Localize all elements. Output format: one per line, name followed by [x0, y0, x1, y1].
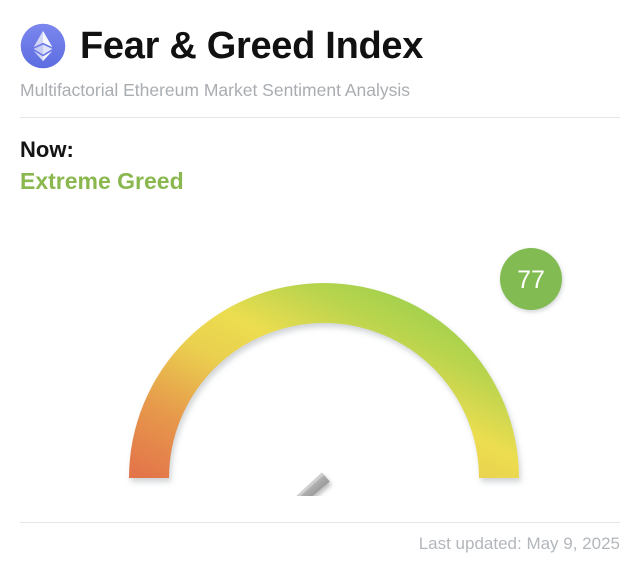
- header-divider: [20, 117, 620, 118]
- gauge-arc: [129, 283, 519, 478]
- page-subtitle: Multifactorial Ethereum Market Sentiment…: [20, 80, 620, 101]
- last-updated-text: Last updated: May 9, 2025: [419, 534, 620, 554]
- ethereum-icon: [20, 23, 66, 69]
- gauge-value-badge: 77: [500, 248, 562, 310]
- gauge-needle: [209, 473, 329, 496]
- gauge-chart: 77: [0, 196, 640, 496]
- footer-divider: [20, 522, 620, 523]
- title-row: Fear & Greed Index: [20, 18, 620, 74]
- gauge-value-text: 77: [517, 266, 545, 294]
- header: Fear & Greed Index Multifactorial Ethere…: [20, 18, 620, 101]
- page-title: Fear & Greed Index: [80, 27, 423, 65]
- status-now-label: Now:: [20, 136, 184, 164]
- fear-greed-index-card: Fear & Greed Index Multifactorial Ethere…: [0, 0, 640, 570]
- status-badge: Extreme Greed: [20, 167, 184, 196]
- gauge-svg: 77: [0, 196, 640, 496]
- status-block: Now: Extreme Greed: [20, 136, 184, 195]
